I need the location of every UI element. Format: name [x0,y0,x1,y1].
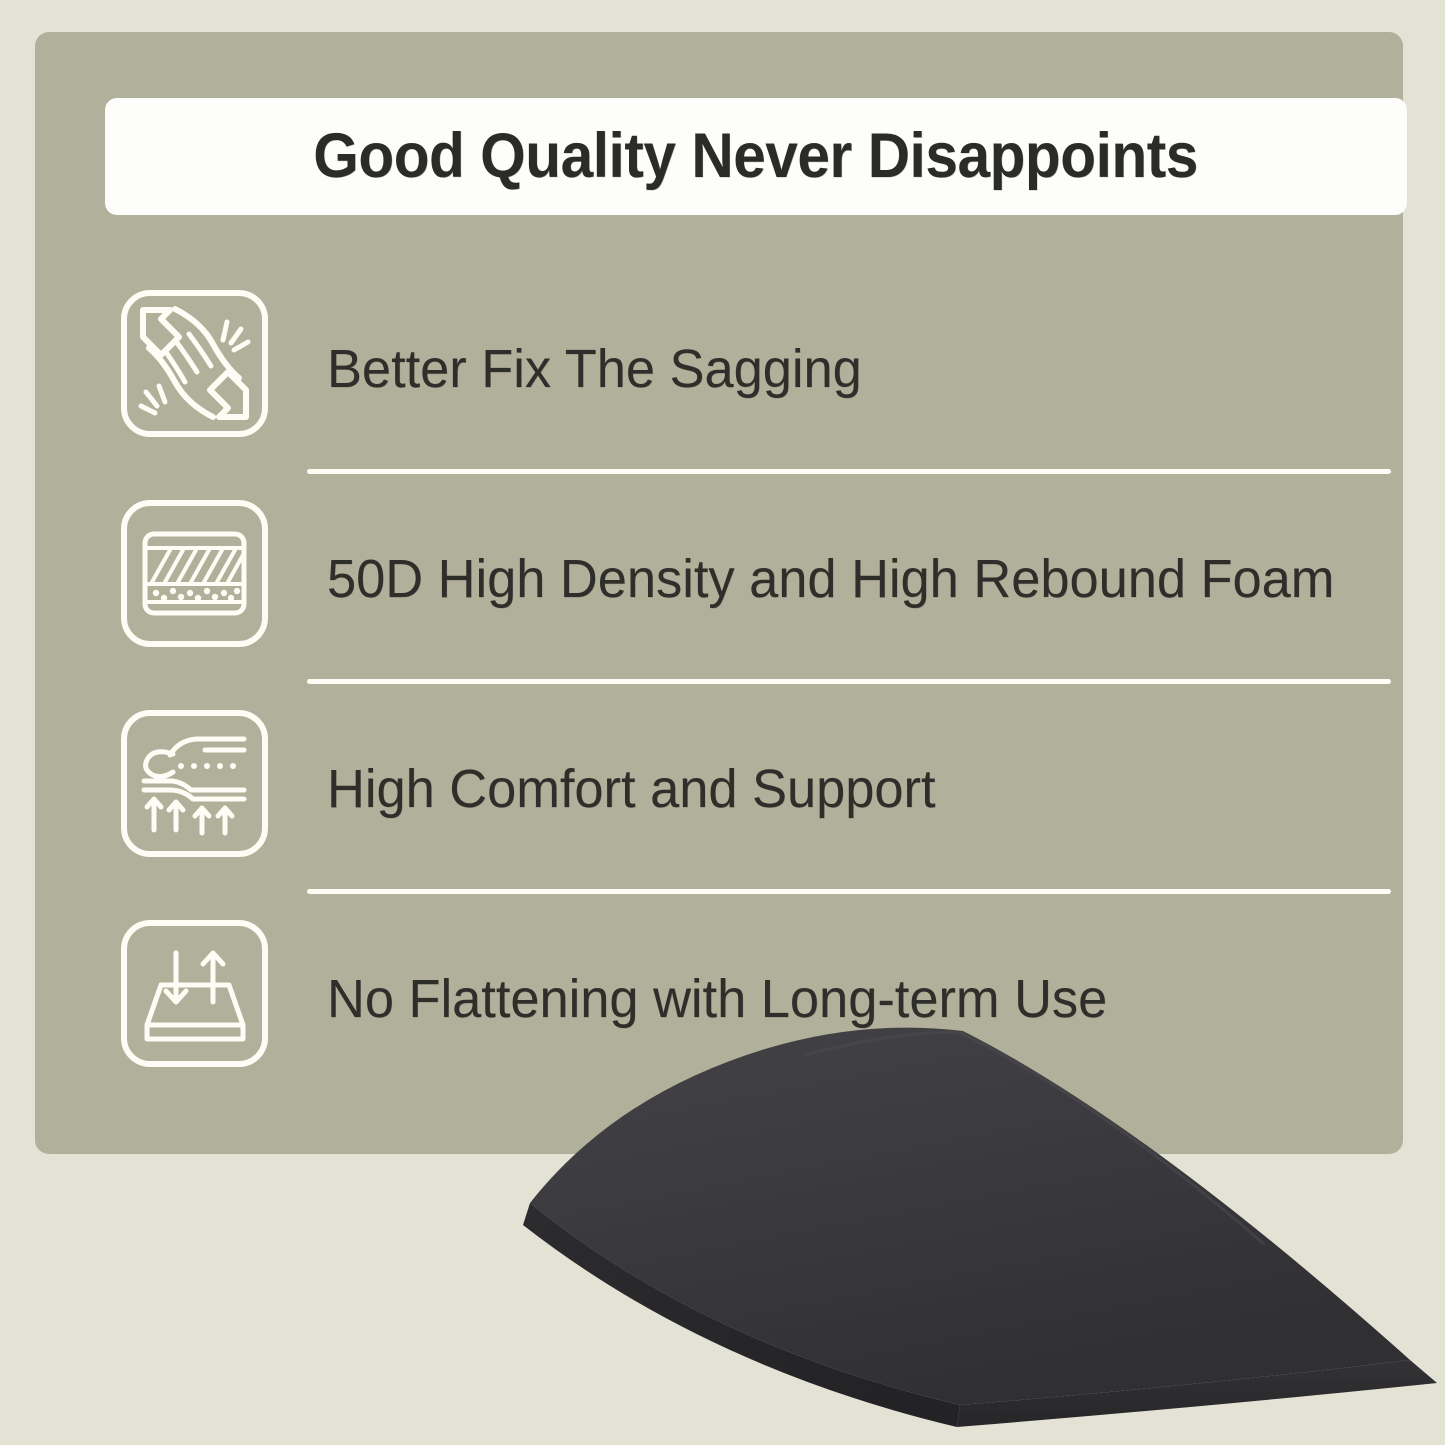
feature-label: High Comfort and Support [327,761,936,818]
feature-label: 50D High Density and High Rebound Foam [327,551,1334,608]
feature-label: Better Fix The Sagging [327,341,862,398]
feature-panel: Good Quality Never Disappoints [35,32,1403,1154]
body-support-icon [113,702,276,865]
title-banner: Good Quality Never Disappoints [105,98,1407,215]
feature-item-better-fix-the-sagging: Better Fix The Sagging [35,264,1438,474]
feature-item-high-comfort-and-support: High Comfort and Support [35,684,1438,894]
feature-item-high-density-foam: 50D High Density and High Rebound Foam [35,474,1438,684]
foam-layers-icon [113,492,276,655]
product-photo-black-curved-foam-cushion [505,1015,1445,1435]
stretch-arrows-icon [113,282,276,445]
infographic-root: Good Quality Never Disappoints [0,0,1445,1445]
page-title: Good Quality Never Disappoints [314,125,1199,188]
feature-list: Better Fix The Sagging [35,264,1438,1104]
compression-rebound-icon [113,912,276,1075]
